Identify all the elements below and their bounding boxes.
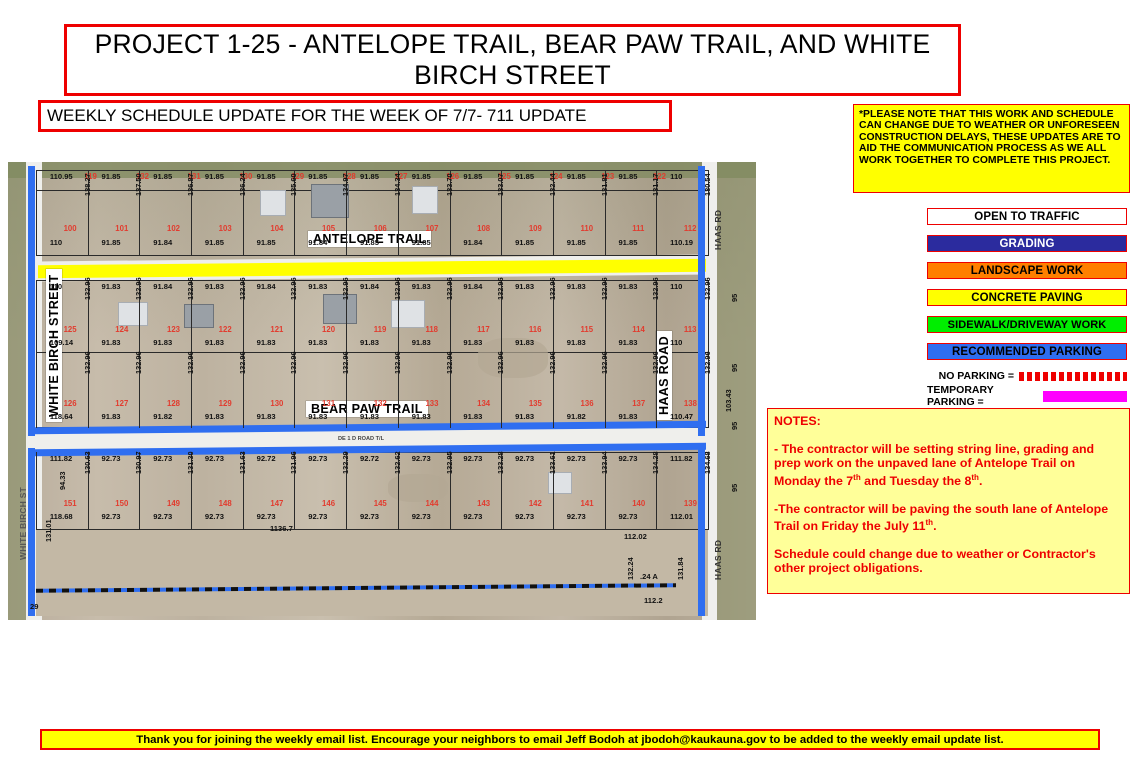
note-item: -The contractor will be paving the south… — [774, 502, 1123, 534]
bottom-parcel-baseline: 1136.7 — [270, 524, 293, 533]
parcel-lot-number: 127 — [115, 399, 128, 408]
parcel-lot-number: 137 — [632, 399, 645, 408]
parcel-depth: 137.50 — [134, 173, 143, 196]
parcel-depth: 135.60 — [289, 173, 298, 196]
parcel-width: 91.83 — [412, 282, 431, 291]
parcel-width: 110 — [670, 282, 682, 291]
parcel-lot-number: 107 — [425, 224, 438, 233]
parcel-depth: 136.24 — [238, 173, 247, 196]
parcel-depth: 132.96 — [445, 351, 454, 374]
parcel-lot-number: 113 — [684, 325, 697, 334]
parcel-depth: 132.96 — [289, 277, 298, 300]
edge-dim-right: 95 — [730, 364, 739, 372]
parcel-lot-number: 108 — [477, 224, 490, 233]
edge-dim-right: 95 — [730, 484, 739, 492]
weekly-update-subtitle-box: WEEKLY SCHEDULE UPDATE FOR THE WEEK OF 7… — [38, 100, 672, 132]
bottom-parcel-left-depth: 132.24 — [626, 557, 635, 580]
parcel-lot-number: 117 — [477, 325, 490, 334]
parcel-lot-number: 143 — [477, 499, 490, 508]
parcel-lot-number: 147 — [270, 499, 283, 508]
parcel-lot-number: 101 — [115, 224, 128, 233]
parcel-width: 91.83 — [308, 282, 327, 291]
parcel-width: 92.73 — [257, 512, 276, 521]
edge-dim-right: 95 — [730, 422, 739, 430]
note-item: - The contractor will be setting string … — [774, 442, 1123, 489]
parcel-width: 92.73 — [567, 454, 586, 463]
building — [260, 190, 286, 216]
legend-label: OPEN TO TRAFFIC — [974, 211, 1079, 223]
parcel-width: 91.85 — [463, 172, 482, 181]
parcel-width: 91.85 — [205, 172, 224, 181]
parcel-width: 91.83 — [102, 282, 121, 291]
parcel-width: 91.83 — [360, 338, 379, 347]
parcel-depth: 132.29 — [341, 451, 350, 474]
bottom-parcel-area: .24 A — [640, 572, 658, 581]
parcel-depth: 133.28 — [496, 451, 505, 474]
parcel-depth: 132.96 — [548, 277, 557, 300]
parcel-width: 91.83 — [515, 412, 534, 421]
street-label-haas-rd-small-upper: HAAS RD — [713, 208, 723, 252]
recommended-parking-band-haas-road — [698, 166, 705, 436]
parcel-width: 91.85 — [412, 238, 431, 247]
parcel-lot-number: 134 — [477, 399, 490, 408]
parcel-depth: 132.96 — [703, 351, 712, 374]
parcel-depth: 134.68 — [703, 451, 712, 474]
parcel-width: 91.83 — [618, 338, 637, 347]
parcel-width: 91.84 — [308, 238, 327, 247]
building — [412, 186, 438, 214]
parcel-depth: 134.28 — [651, 451, 660, 474]
notes-box: NOTES: - The contractor will be setting … — [767, 408, 1130, 594]
parcel-lot-number: 119 — [374, 325, 387, 334]
parcel-lot-number: 115 — [581, 325, 594, 334]
parcel-depth: 132.96 — [445, 277, 454, 300]
parcel-width: 91.84 — [153, 238, 172, 247]
corner-dim-bottom-left: 29 — [30, 602, 38, 611]
parcel-depth: 131.30 — [186, 451, 195, 474]
parcel-lot-number: 110 — [581, 224, 594, 233]
legend-item-temporary-parking: TEMPORARY PARKING = — [927, 384, 1127, 408]
parcel-width: 92.73 — [463, 512, 482, 521]
parcel-width: 110.47 — [670, 412, 693, 421]
parcel-width: 91.83 — [515, 282, 534, 291]
parcel-depth: 132.96 — [289, 351, 298, 374]
parcel-lot-number: 132 — [374, 399, 387, 408]
parcel-lot-number: 109 — [529, 224, 542, 233]
parcel-depth: 132.96 — [703, 277, 712, 300]
parcel-width: 92.73 — [412, 454, 431, 463]
parcel-width: 91.83 — [308, 338, 327, 347]
parcel-depth: 134.34 — [393, 173, 402, 196]
legend-label: TEMPORARY PARKING = — [927, 384, 1038, 408]
building — [323, 294, 357, 324]
parcel-width: 91.84 — [463, 282, 482, 291]
parcel-lot-number: 123 — [167, 325, 180, 334]
legend-label: GRADING — [999, 238, 1054, 250]
parcel-width: 110 — [50, 238, 62, 247]
parcel-width: 91.83 — [205, 412, 224, 421]
legend-item-open-to-traffic: OPEN TO TRAFFIC — [927, 208, 1127, 225]
large-bottom-parcel — [36, 530, 708, 616]
parcel-lot-number: 128 — [167, 399, 180, 408]
parcel-depth: 136.87 — [186, 173, 195, 196]
parcel-width: 91.85 — [515, 172, 534, 181]
parcel-depth: 132.95 — [445, 451, 454, 474]
parcel-width: 91.85 — [102, 238, 121, 247]
bottom-parcel-top: 112.02 — [624, 532, 647, 541]
legend-item-concrete-paving: CONCRETE PAVING — [927, 289, 1127, 306]
parcel-width: 91.83 — [257, 338, 276, 347]
parcel-width: 92.73 — [463, 454, 482, 463]
parcel-lot-number: 141 — [581, 499, 594, 508]
parcel-width: 91.85 — [618, 172, 637, 181]
parcel-lot-number: 140 — [632, 499, 645, 508]
legend-label: LANDSCAPE WORK — [971, 265, 1084, 277]
parcel-width: 91.83 — [463, 338, 482, 347]
parcel-width: 91.85 — [205, 238, 224, 247]
building — [548, 472, 572, 494]
parcel-depth: 132.96 — [548, 351, 557, 374]
parcel-lot-number: 125 — [64, 325, 77, 334]
parcel-width: 91.83 — [567, 282, 586, 291]
parcel-lot-number: 135 — [529, 399, 542, 408]
parcel-width: 91.84 — [153, 282, 172, 291]
parcel-width: 92.73 — [308, 454, 327, 463]
parcel-depth: 130.63 — [83, 451, 92, 474]
parcel-width: 91.83 — [412, 338, 431, 347]
parcel-lot-number: 111 — [632, 224, 644, 233]
parcel-width: 92.73 — [205, 512, 224, 521]
parcel-lot-number: 116 — [529, 325, 542, 334]
parcel-width: 91.83 — [153, 338, 172, 347]
parcel-width: 91.83 — [618, 282, 637, 291]
parcel-width: 92.73 — [205, 454, 224, 463]
footer-text: Thank you for joining the weekly email l… — [136, 734, 1003, 746]
parcel-width: 91.83 — [102, 338, 121, 347]
parcel-depth: 132.96 — [186, 277, 195, 300]
parcel-width: 91.85 — [153, 172, 172, 181]
building — [184, 304, 214, 328]
parcel-width: 91.84 — [360, 282, 379, 291]
parcel-width: 92.72 — [360, 454, 379, 463]
edge-dim-left: 94.33 — [58, 472, 67, 491]
parcel-lot-number: 149 — [167, 499, 180, 508]
parcel-width: 92.73 — [618, 512, 637, 521]
parcel-width: 91.83 — [205, 282, 224, 291]
parcel-depth: 132.96 — [600, 277, 609, 300]
parcel-width: 91.83 — [308, 412, 327, 421]
parcel-depth: 130.54 — [703, 173, 712, 196]
parcel-width: 118.64 — [50, 412, 73, 421]
parcel-depth: 132.62 — [393, 451, 402, 474]
cross-street-note: DE 1 D ROAD T/L — [338, 436, 384, 442]
parcel-depth: 134.97 — [341, 173, 350, 196]
notes-heading: NOTES: — [774, 414, 1123, 429]
street-label-haas-rd-small-lower: HAAS RD — [713, 538, 723, 582]
parcel-width: 92.73 — [412, 512, 431, 521]
parcel-lot-number: 142 — [529, 499, 542, 508]
parcel-lot-number: 118 — [425, 325, 438, 334]
parcel-width: 91.85 — [412, 172, 431, 181]
recommended-parking-band-white-birch — [28, 166, 35, 436]
edge-dim-left: 131.01 — [44, 519, 53, 542]
parcel-width: 118.68 — [50, 512, 73, 521]
parcel-lot-number: 105 — [322, 224, 335, 233]
bottom-parcel-bottom: 112.2 — [644, 596, 663, 605]
parcel-width: 110 — [670, 338, 682, 347]
parcel-depth: 130.97 — [134, 451, 143, 474]
parcel-width: 91.83 — [567, 338, 586, 347]
parcel-lot-number: 139 — [684, 499, 697, 508]
parcel-width: 109.14 — [50, 338, 73, 347]
ground-patch — [478, 338, 548, 378]
parcel-width: 92.73 — [308, 512, 327, 521]
parcel-depth: 132.96 — [83, 277, 92, 300]
please-note-text: *PLEASE NOTE THAT THIS WORK AND SCHEDULE… — [859, 109, 1124, 166]
parcel-width: 91.85 — [102, 172, 121, 181]
parcel-width: 91.83 — [618, 412, 637, 421]
legend: OPEN TO TRAFFIC GRADING LANDSCAPE WORK C… — [927, 208, 1127, 408]
bottom-parcel-right-depth: 131.84 — [676, 557, 685, 580]
legend-label: SIDEWALK/DRIVEWAY WORK — [948, 319, 1107, 331]
parcel-lot-number: 131 — [322, 399, 335, 408]
edge-dim-right: 103.43 — [724, 389, 733, 412]
parcel-lot-number: 121 — [270, 325, 283, 334]
parcel-width: 92.73 — [360, 512, 379, 521]
street-label-white-birch-st-small: WHITE BIRCH ST — [18, 485, 28, 562]
parcel-divider — [36, 452, 37, 530]
parcel-lot-number: 114 — [632, 325, 645, 334]
parcel-depth: 132.96 — [651, 351, 660, 374]
parcel-depth: 131.17 — [651, 173, 660, 196]
note-item: Schedule could change due to weather or … — [774, 547, 1123, 576]
ground-patch — [388, 474, 448, 502]
parcel-width: 111.82 — [50, 454, 72, 463]
parcel-depth: 132.96 — [134, 351, 143, 374]
parcel-width: 91.82 — [567, 412, 586, 421]
parcel-lot-number: 146 — [322, 499, 335, 508]
parcel-lot-number: 138 — [684, 399, 697, 408]
parcel-lot-number: 145 — [374, 499, 387, 508]
parcel-width: 110.95 — [50, 172, 73, 181]
parcel-depth: 132.96 — [134, 277, 143, 300]
parcel-lot-number: 122 — [219, 325, 232, 334]
parcel-depth: 132.96 — [651, 277, 660, 300]
parcel-lot-number: 148 — [219, 499, 232, 508]
parcel-lot-number: 104 — [270, 224, 283, 233]
parcel-depth: 131.81 — [600, 173, 609, 196]
building — [391, 300, 425, 328]
parcel-width: 91.85 — [360, 172, 379, 181]
parcel-depth: 132.96 — [238, 351, 247, 374]
parcel-depth: 133.07 — [496, 173, 505, 196]
parcel-width: 91.85 — [257, 172, 276, 181]
weekly-update-subtitle: WEEKLY SCHEDULE UPDATE FOR THE WEEK OF 7… — [47, 106, 586, 126]
parcel-lot-number: 102 — [167, 224, 180, 233]
parcel-width: 91.83 — [412, 412, 431, 421]
parcel-divider — [36, 280, 37, 428]
legend-item-landscape-work: LANDSCAPE WORK — [927, 262, 1127, 279]
parcel-width: 91.83 — [257, 412, 276, 421]
parcel-lot-number: 124 — [115, 325, 128, 334]
parcel-depth: 132.96 — [600, 351, 609, 374]
legend-item-no-parking: NO PARKING = — [927, 370, 1127, 382]
parcel-width: 91.85 — [360, 238, 379, 247]
no-parking-swatch — [1019, 372, 1127, 381]
parcel-width: 91.83 — [463, 412, 482, 421]
parcel-depth: 132.96 — [341, 277, 350, 300]
parcel-width: 91.83 — [515, 338, 534, 347]
parcel-depth: 132.96 — [238, 277, 247, 300]
legend-label: RECOMMENDED PARKING — [952, 346, 1102, 358]
parcel-lot-number: 130 — [270, 399, 283, 408]
project-title-box: PROJECT 1-25 - ANTELOPE TRAIL, BEAR PAW … — [64, 24, 961, 96]
page-title: PROJECT 1-25 - ANTELOPE TRAIL, BEAR PAW … — [67, 29, 958, 91]
parcel-lot-number: 150 — [115, 499, 128, 508]
parcel-width: 91.85 — [515, 238, 534, 247]
parcel-depth: 131.96 — [289, 451, 298, 474]
legend-item-recommended-parking: RECOMMENDED PARKING — [927, 343, 1127, 360]
parcel-width: 92.73 — [102, 512, 121, 521]
parcel-depth: 132.96 — [393, 277, 402, 300]
parcel-width: 91.84 — [463, 238, 482, 247]
legend-item-grading: GRADING — [927, 235, 1127, 252]
parcel-width: 91.85 — [308, 172, 327, 181]
parcel-width: 91.85 — [567, 172, 586, 181]
parcel-lot-number: 151 — [64, 499, 77, 508]
parcel-width: 91.82 — [153, 412, 172, 421]
edge-dim-right: 95 — [730, 294, 739, 302]
building — [118, 302, 148, 326]
parcel-width: 91.84 — [257, 282, 276, 291]
legend-item-sidewalk-driveway-work: SIDEWALK/DRIVEWAY WORK — [927, 316, 1127, 333]
parcel-depth: 132.96 — [83, 351, 92, 374]
parcel-depth: 133.94 — [600, 451, 609, 474]
parcel-lot-number: 144 — [425, 499, 438, 508]
parcel-lot-number: 126 — [64, 399, 77, 408]
parcel-width: 92.73 — [102, 454, 121, 463]
parcel-lot-number: 133 — [425, 399, 438, 408]
parcel-width: 110 — [670, 172, 682, 181]
parcel-lot-number: 106 — [374, 224, 387, 233]
parcel-depth: 132.96 — [393, 351, 402, 374]
parcel-line — [36, 170, 708, 171]
parcel-line — [36, 255, 708, 256]
parcel-divider — [36, 170, 37, 256]
parcel-width: 110 — [50, 282, 62, 291]
parcel-lot-number: 136 — [581, 399, 594, 408]
parcel-width: 111.82 — [670, 454, 692, 463]
parcel-width: 92.73 — [515, 512, 534, 521]
parcel-width: 91.83 — [360, 412, 379, 421]
parcel-lot-number: 112 — [684, 224, 697, 233]
parcel-width: 92.73 — [515, 454, 534, 463]
parcel-width: 91.85 — [618, 238, 637, 247]
parcel-width: 91.85 — [257, 238, 276, 247]
parcel-depth: 133.70 — [445, 173, 454, 196]
parcel-lot-number: 100 — [64, 224, 77, 233]
email-list-footer: Thank you for joining the weekly email l… — [40, 729, 1100, 750]
parcel-depth: 132.44 — [548, 173, 557, 196]
recommended-parking-band-white-birch-lower — [28, 448, 35, 616]
parcel-width: 92.73 — [567, 512, 586, 521]
parcel-width: 91.85 — [567, 238, 586, 247]
aerial-project-map[interactable]: ANTELOPE TRAIL BEAR PAW TRAIL WHITE BIRC… — [8, 162, 756, 620]
parcel-lot-number: 120 — [322, 325, 335, 334]
parcel-width: 92.72 — [257, 454, 276, 463]
please-note-box: *PLEASE NOTE THAT THIS WORK AND SCHEDULE… — [853, 104, 1130, 193]
parcel-depth: 133.61 — [548, 451, 557, 474]
parcel-width: 110.19 — [670, 238, 693, 247]
parcel-width: 92.73 — [618, 454, 637, 463]
parcel-lot-number: 129 — [219, 399, 232, 408]
parcel-width: 91.83 — [102, 412, 121, 421]
parcel-width: 91.83 — [205, 338, 224, 347]
parcel-depth: 132.96 — [341, 351, 350, 374]
parcel-width: 112.01 — [670, 512, 693, 521]
parcel-width: 92.73 — [153, 512, 172, 521]
parcel-depth: 138.27 — [83, 173, 92, 196]
temporary-parking-swatch — [1043, 391, 1127, 402]
parcel-depth: 131.63 — [238, 451, 247, 474]
legend-label: NO PARKING = — [939, 370, 1014, 382]
parcel-lot-number: 103 — [219, 224, 232, 233]
parcel-depth: 132.96 — [186, 351, 195, 374]
parcel-depth: 132.96 — [496, 351, 505, 374]
legend-label: CONCRETE PAVING — [971, 292, 1083, 304]
parcel-width: 92.73 — [153, 454, 172, 463]
parcel-depth: 132.96 — [496, 277, 505, 300]
